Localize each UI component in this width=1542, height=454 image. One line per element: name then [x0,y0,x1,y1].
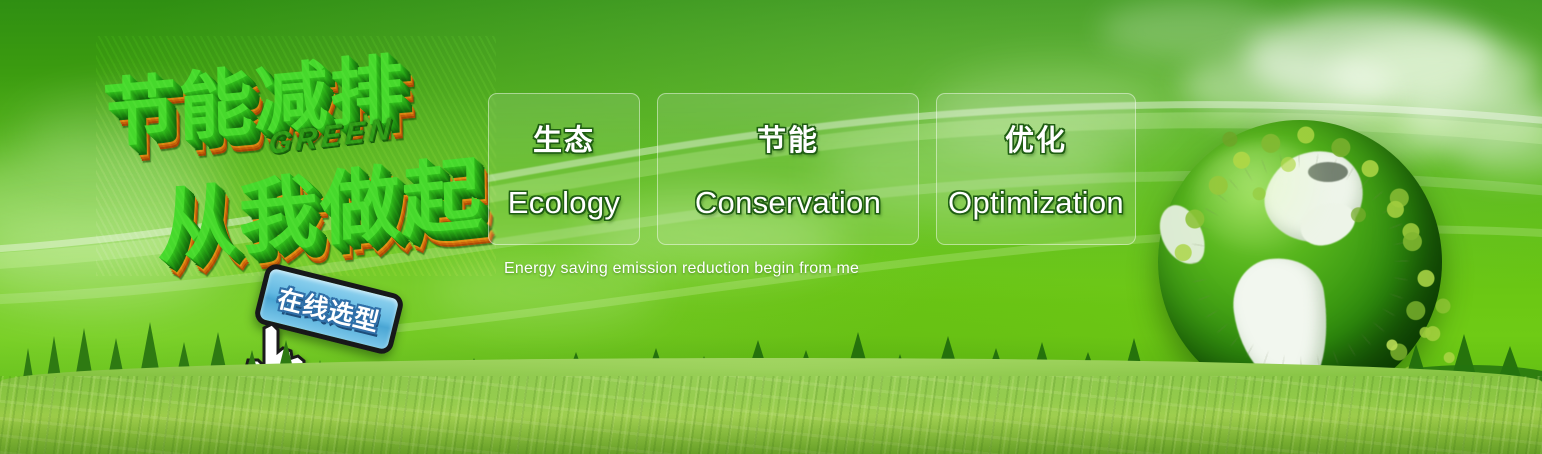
hero-overlay-word: GREEN [268,112,396,162]
grass-texture [0,376,1542,454]
treeline-icon [0,314,1542,396]
continent-shape [1257,141,1370,251]
hero-artwork: 节能减排 GREEN 从我做起 [96,36,496,276]
panel-optimization-en: Optimization [948,185,1124,221]
leaf-cluster-icon [1370,318,1480,408]
globe-highlight [1192,142,1342,252]
panel-optimization[interactable]: 优化 Optimization [936,93,1136,245]
cloud-icon [0,215,220,310]
vine-icon [1150,112,1450,412]
hero-weave-texture [96,36,496,276]
cloud-icon [1455,128,1542,178]
continent-shape [1308,162,1348,182]
feature-panel-group: 生态 Ecology 节能 Conservation 优化 Optimizati… [488,93,1136,245]
hero-title-line2: 从我做起 [156,129,484,280]
globe-sphere [1158,120,1442,404]
continent-shape [1153,199,1212,271]
panel-ecology-en: Ecology [508,185,620,221]
grass-field-icon [0,358,1542,454]
panel-ecology[interactable]: 生态 Ecology [488,93,640,245]
cloud-icon [1400,86,1542,148]
ground-scene [0,322,1542,454]
online-selection-label: 在线选型 [274,279,384,339]
cloud-icon [0,150,230,260]
panel-conservation[interactable]: 节能 Conservation [657,93,919,245]
cloud-icon [1330,34,1540,112]
ivy-globe-icon [1140,108,1460,430]
leaf-cluster-icon [1290,168,1460,398]
online-selection-button[interactable]: 在线选型 [253,262,406,357]
cloud-icon [1265,104,1465,164]
panel-ecology-cn: 生态 [533,117,595,159]
grass-shadow [0,414,1542,454]
cloud-icon [1100,0,1280,60]
leaf-cluster-icon [1154,114,1446,324]
continent-shape [1296,198,1360,250]
hero-title-line1: 节能减排 [102,29,407,163]
eco-hero-banner: 节能减排 GREEN 从我做起 在线选型 生态 Ecology 节能 Conse… [0,0,1542,454]
panel-optimization-cn: 优化 [1005,117,1067,159]
continent-shape [1227,252,1336,396]
cloud-icon [1245,10,1495,105]
cloud-icon [1180,52,1395,122]
panel-conservation-en: Conservation [695,185,881,221]
panel-conservation-cn: 节能 [757,117,819,159]
cloud-icon [20,95,230,175]
tagline-text: Energy saving emission reduction begin f… [504,260,859,278]
